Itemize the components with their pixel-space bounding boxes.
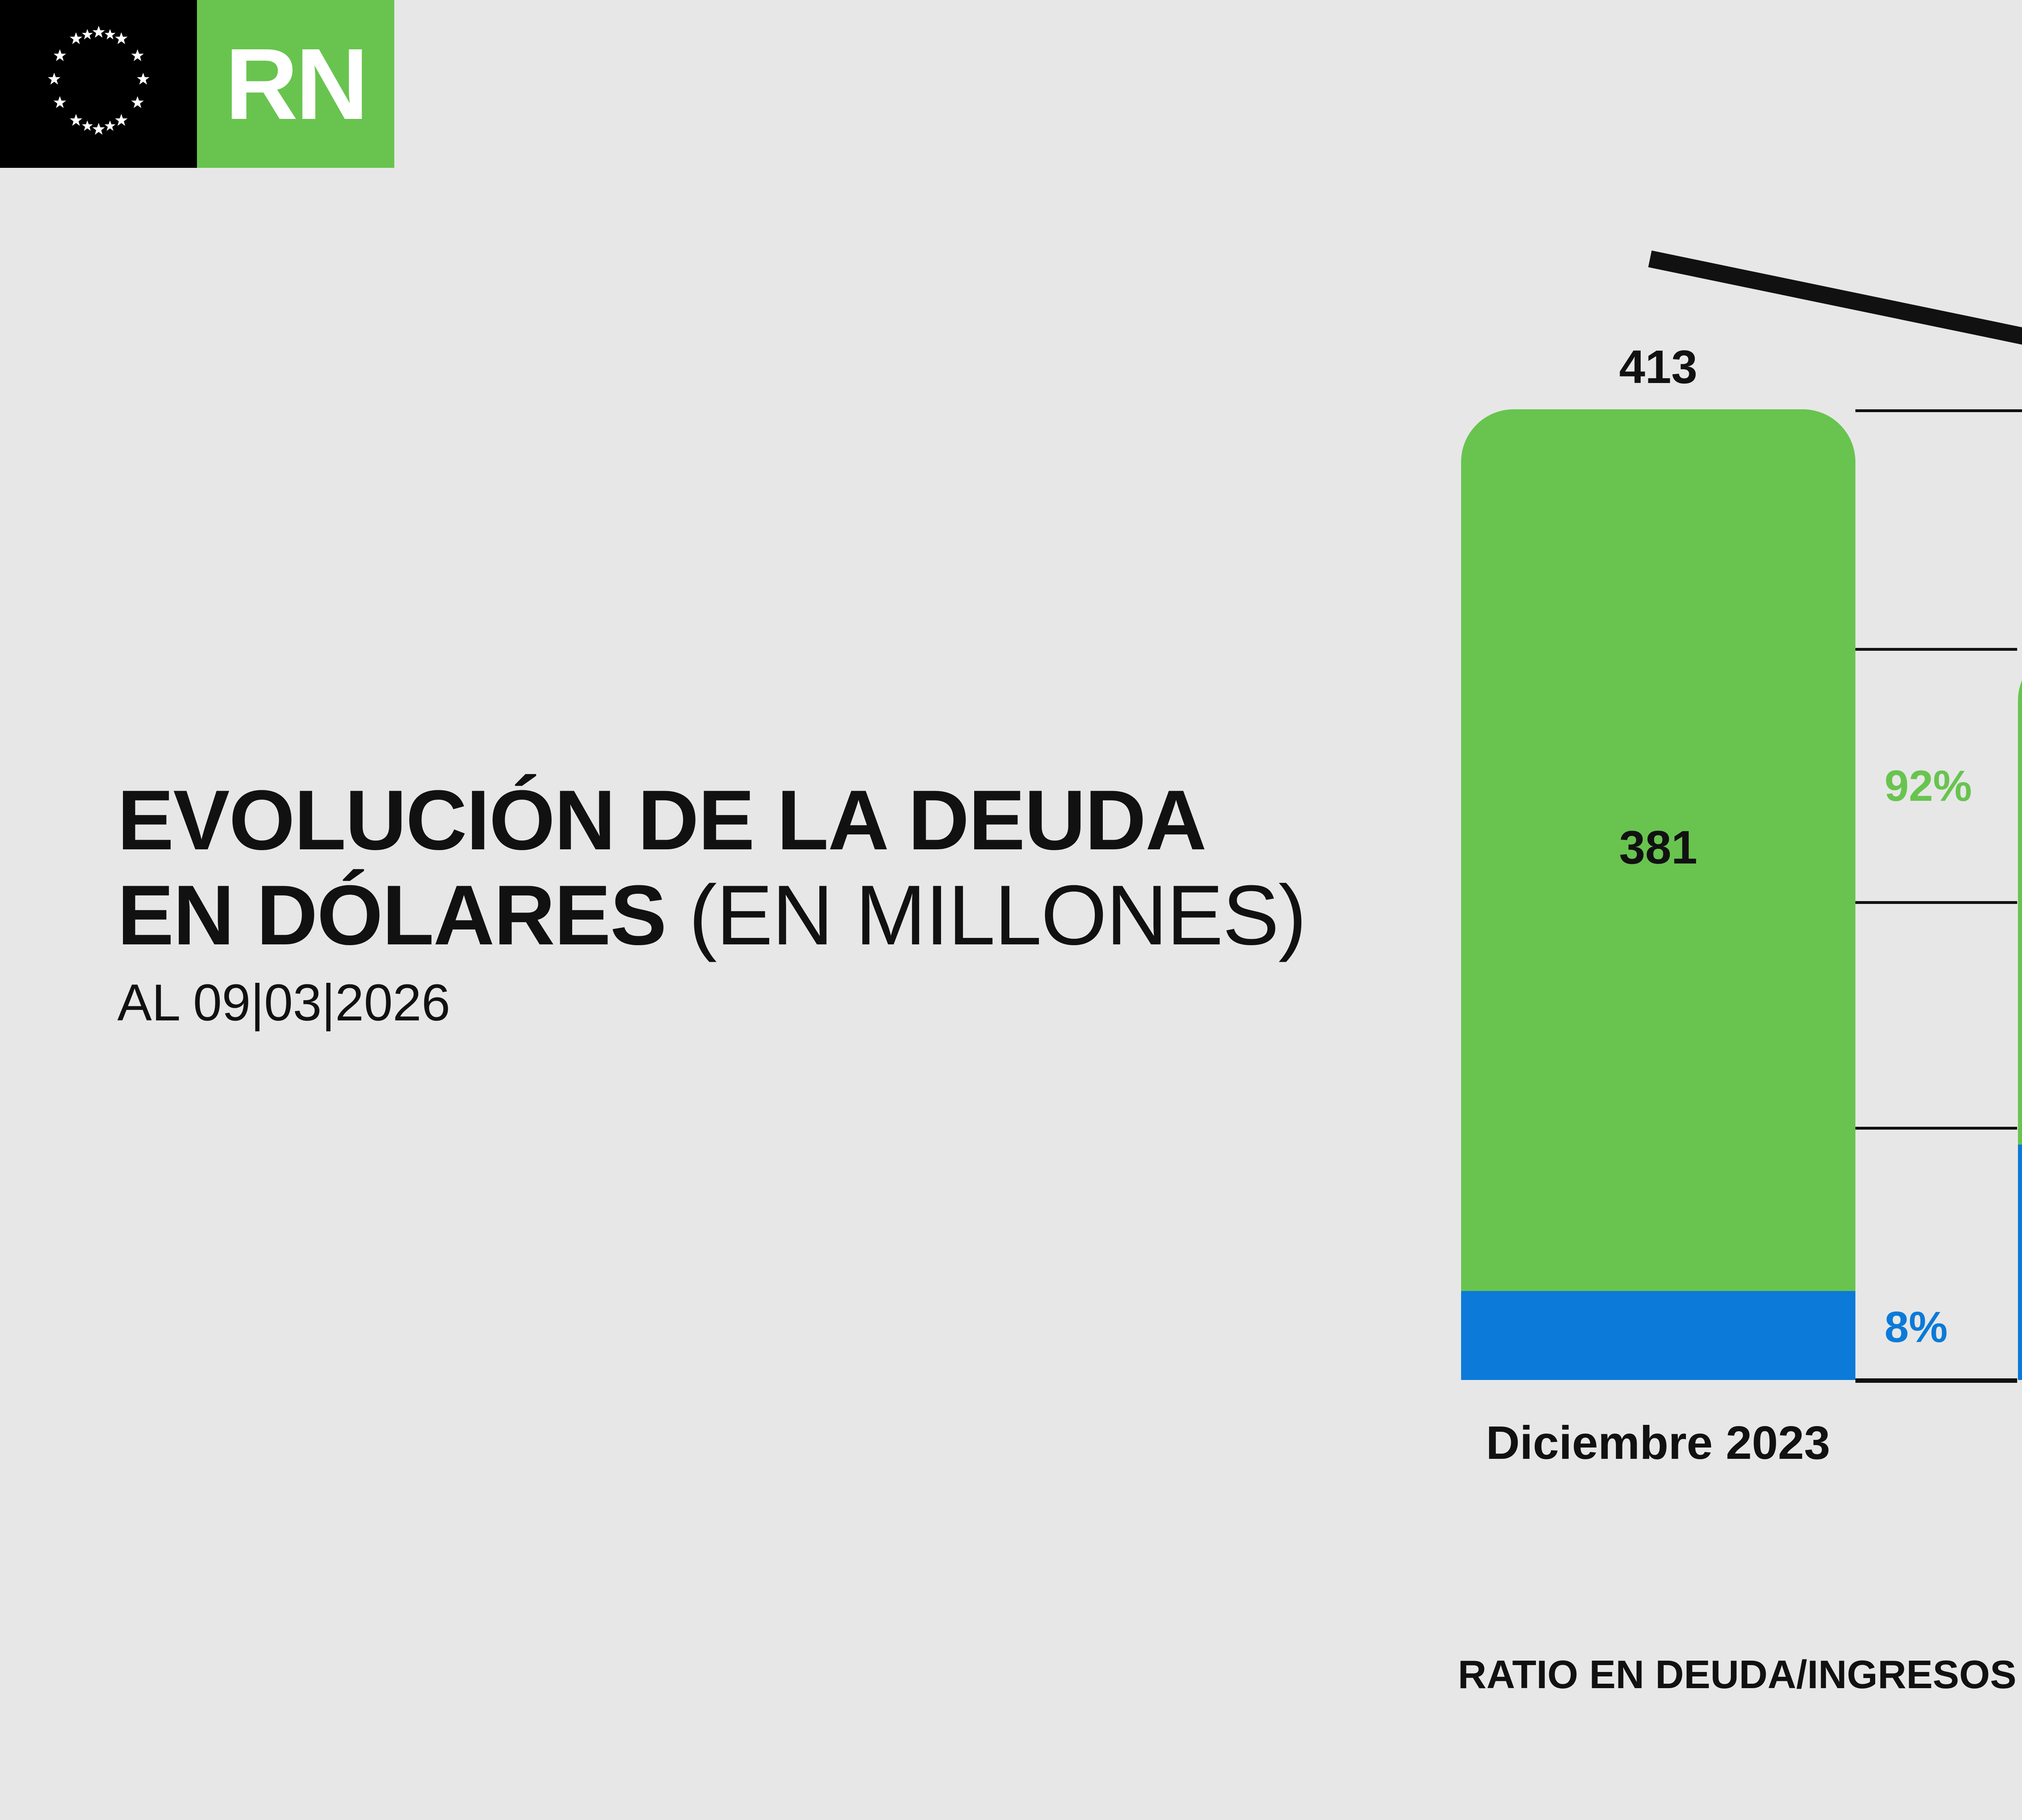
- bar-segment-pesos-1[interactable]: [2018, 1145, 2022, 1380]
- bar-segment-pesos-0[interactable]: [1461, 1291, 1855, 1380]
- bar-total-label-0: 413: [1461, 340, 1855, 394]
- bar-value-dolares-0: 381: [1461, 820, 1855, 874]
- title-block: EVOLUCIÓN DE LA DEUDA EN DÓLARES (EN MIL…: [117, 772, 1492, 1033]
- bar-total-label-1: 320: [2018, 579, 2022, 633]
- ratio-footer: RATIO EN DEUDA/INGRESOS NETOS 2023 71% 2…: [1458, 1634, 2022, 1715]
- bar-percent-dolares-0: 92%: [1885, 760, 1972, 811]
- bar-value-dolares-1: 231: [2018, 866, 2022, 921]
- page-subtitle: AL 09|03|2026: [117, 973, 1492, 1033]
- page-title-line2-bold: EN DÓLARES: [117, 868, 689, 963]
- page-title-line2: EN DÓLARES (EN MILLONES): [117, 868, 1492, 963]
- x-axis-label-1: Diciembre 2025: [1973, 1416, 2022, 1470]
- bar-percent-pesos-0: 8%: [1885, 1302, 1948, 1352]
- axis-baseline-gap1: [1855, 1378, 2017, 1383]
- gridline-413: [1855, 409, 2022, 412]
- x-axis-label-0: Diciembre 2023: [1415, 1416, 1901, 1470]
- bar-diciembre-2025[interactable]: [2018, 648, 2022, 1380]
- gridline-low-gap1: [1855, 1127, 2017, 1130]
- trend-arrow-icon: [1638, 243, 2022, 566]
- bar-segment-dolares-0[interactable]: [1461, 409, 1855, 1291]
- logo-emblem-panel: [0, 0, 197, 168]
- infographic-canvas: RN Stock en pesos Stock en dólares EVOLU…: [0, 0, 2022, 1820]
- ratio-footer-title: RATIO EN DEUDA/INGRESOS NETOS: [1458, 1652, 2022, 1697]
- logo-monogram-text: RN: [225, 34, 366, 135]
- bar-segment-dolares-1[interactable]: [2018, 648, 2022, 1145]
- gridline-320-gap1: [1855, 648, 2017, 651]
- logo-monogram-panel: RN: [197, 0, 394, 168]
- brand-logo: RN: [0, 0, 394, 168]
- stars-oval-icon: [42, 23, 155, 145]
- gridline-mid-gap1: [1855, 901, 2017, 904]
- page-title-line1: EVOLUCIÓN DE LA DEUDA: [117, 772, 1492, 868]
- bar-diciembre-2023[interactable]: [1461, 409, 1855, 1380]
- page-title-line2-light: (EN MILLONES): [689, 868, 1306, 963]
